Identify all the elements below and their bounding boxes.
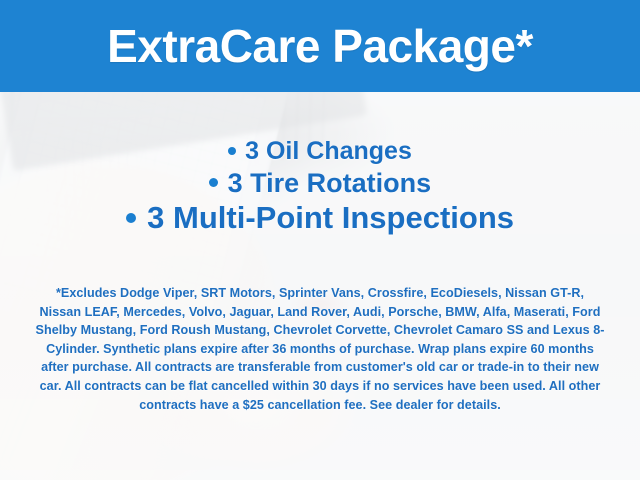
bullet-dot-icon [228, 147, 236, 155]
benefit-item-oil-changes: 3 Oil Changes [0, 136, 640, 167]
bullet-dot-icon [126, 213, 136, 223]
header-banner: ExtraCare Package* [0, 0, 640, 92]
disclaimer-paragraph: *Excludes Dodge Viper, SRT Motors, Sprin… [34, 284, 606, 414]
benefit-label: 3 Tire Rotations [228, 168, 432, 198]
benefit-label: 3 Oil Changes [245, 137, 412, 165]
benefits-list: 3 Oil Changes 3 Tire Rotations 3 Multi-P… [0, 136, 640, 237]
page-title: ExtraCare Package* [107, 23, 533, 69]
extracare-package-poster: ExtraCare Package* 3 Oil Changes 3 Tire … [0, 0, 640, 480]
benefit-label: 3 Multi-Point Inspections [147, 200, 514, 235]
disclaimer-text: *Excludes Dodge Viper, SRT Motors, Sprin… [34, 284, 606, 414]
benefit-item-multi-point-inspections: 3 Multi-Point Inspections [0, 199, 640, 237]
poster-body: 3 Oil Changes 3 Tire Rotations 3 Multi-P… [0, 92, 640, 480]
bullet-dot-icon [209, 178, 218, 187]
benefit-item-tire-rotations: 3 Tire Rotations [0, 167, 640, 200]
